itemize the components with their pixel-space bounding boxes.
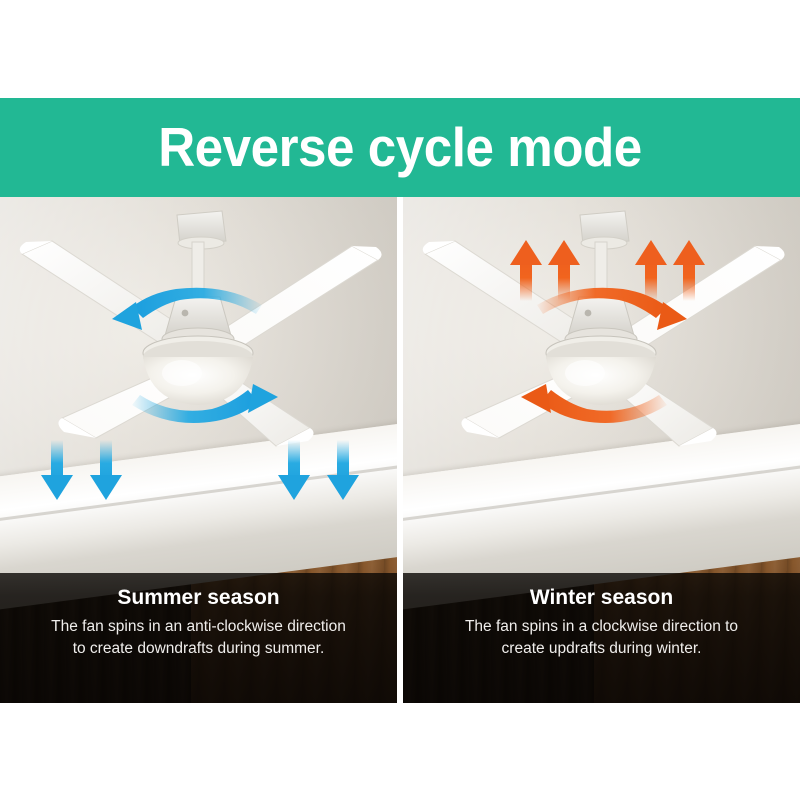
panels-row: Summer season The fan spins in an anti-c… [0, 197, 800, 703]
caption-title-summer: Summer season [117, 585, 279, 610]
caption-winter: Winter season The fan spins in a clockwi… [403, 573, 800, 703]
header-band: Reverse cycle mode [0, 98, 800, 197]
top-whitespace [0, 0, 800, 98]
page-title: Reverse cycle mode [158, 120, 642, 175]
caption-summer: Summer season The fan spins in an anti-c… [0, 573, 397, 703]
caption-title-winter: Winter season [530, 585, 673, 610]
bottom-whitespace [0, 703, 800, 800]
caption-body-summer: The fan spins in an anti-clockwise direc… [49, 616, 349, 659]
panel-summer: Summer season The fan spins in an anti-c… [0, 197, 397, 703]
panel-winter: Winter season The fan spins in a clockwi… [403, 197, 800, 703]
caption-body-winter: The fan spins in a clockwise direction t… [452, 616, 752, 659]
infographic-root: Reverse cycle mode [0, 0, 800, 800]
